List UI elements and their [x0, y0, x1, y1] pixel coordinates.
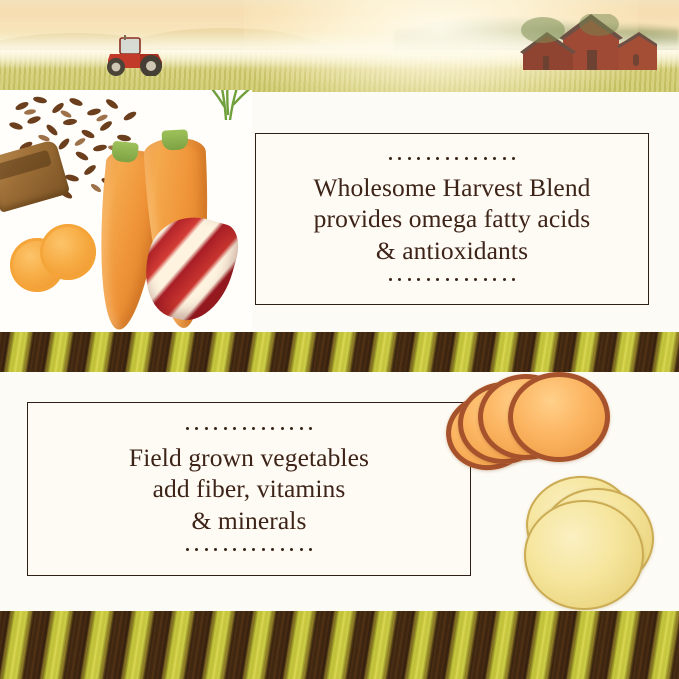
- dot-divider-top: [389, 153, 516, 163]
- card-1-text: Wholesome Harvest Blend provides omega f…: [303, 163, 600, 274]
- field-grown-vegetables-card: Field grown vegetables add fiber, vitami…: [27, 402, 471, 576]
- dot-divider-top: [186, 423, 313, 433]
- barn-icon: [507, 14, 657, 76]
- crop-rows-band-bottom: [0, 611, 679, 679]
- sweet-potato-and-potato-slices: [440, 372, 679, 618]
- sweet-potato-slice: [508, 372, 610, 462]
- carrot-greens: [168, 90, 252, 120]
- card-2-text: Field grown vegetables add fiber, vitami…: [119, 433, 379, 544]
- infographic-page: Wholesome Harvest Blend provides omega f…: [0, 0, 679, 679]
- dot-divider-bottom: [186, 545, 313, 555]
- carrot-slice: [40, 224, 96, 280]
- carrot-crown: [161, 129, 188, 150]
- farm-field-sunrise-banner: [0, 0, 679, 92]
- tractor-icon: [96, 34, 172, 76]
- wholesome-harvest-blend-card: Wholesome Harvest Blend provides omega f…: [255, 133, 649, 305]
- flax-seed-carrot-photo: [0, 90, 252, 333]
- dot-divider-bottom: [389, 275, 516, 285]
- crop-rows-band-middle: [0, 332, 679, 372]
- potato-slice: [524, 500, 644, 610]
